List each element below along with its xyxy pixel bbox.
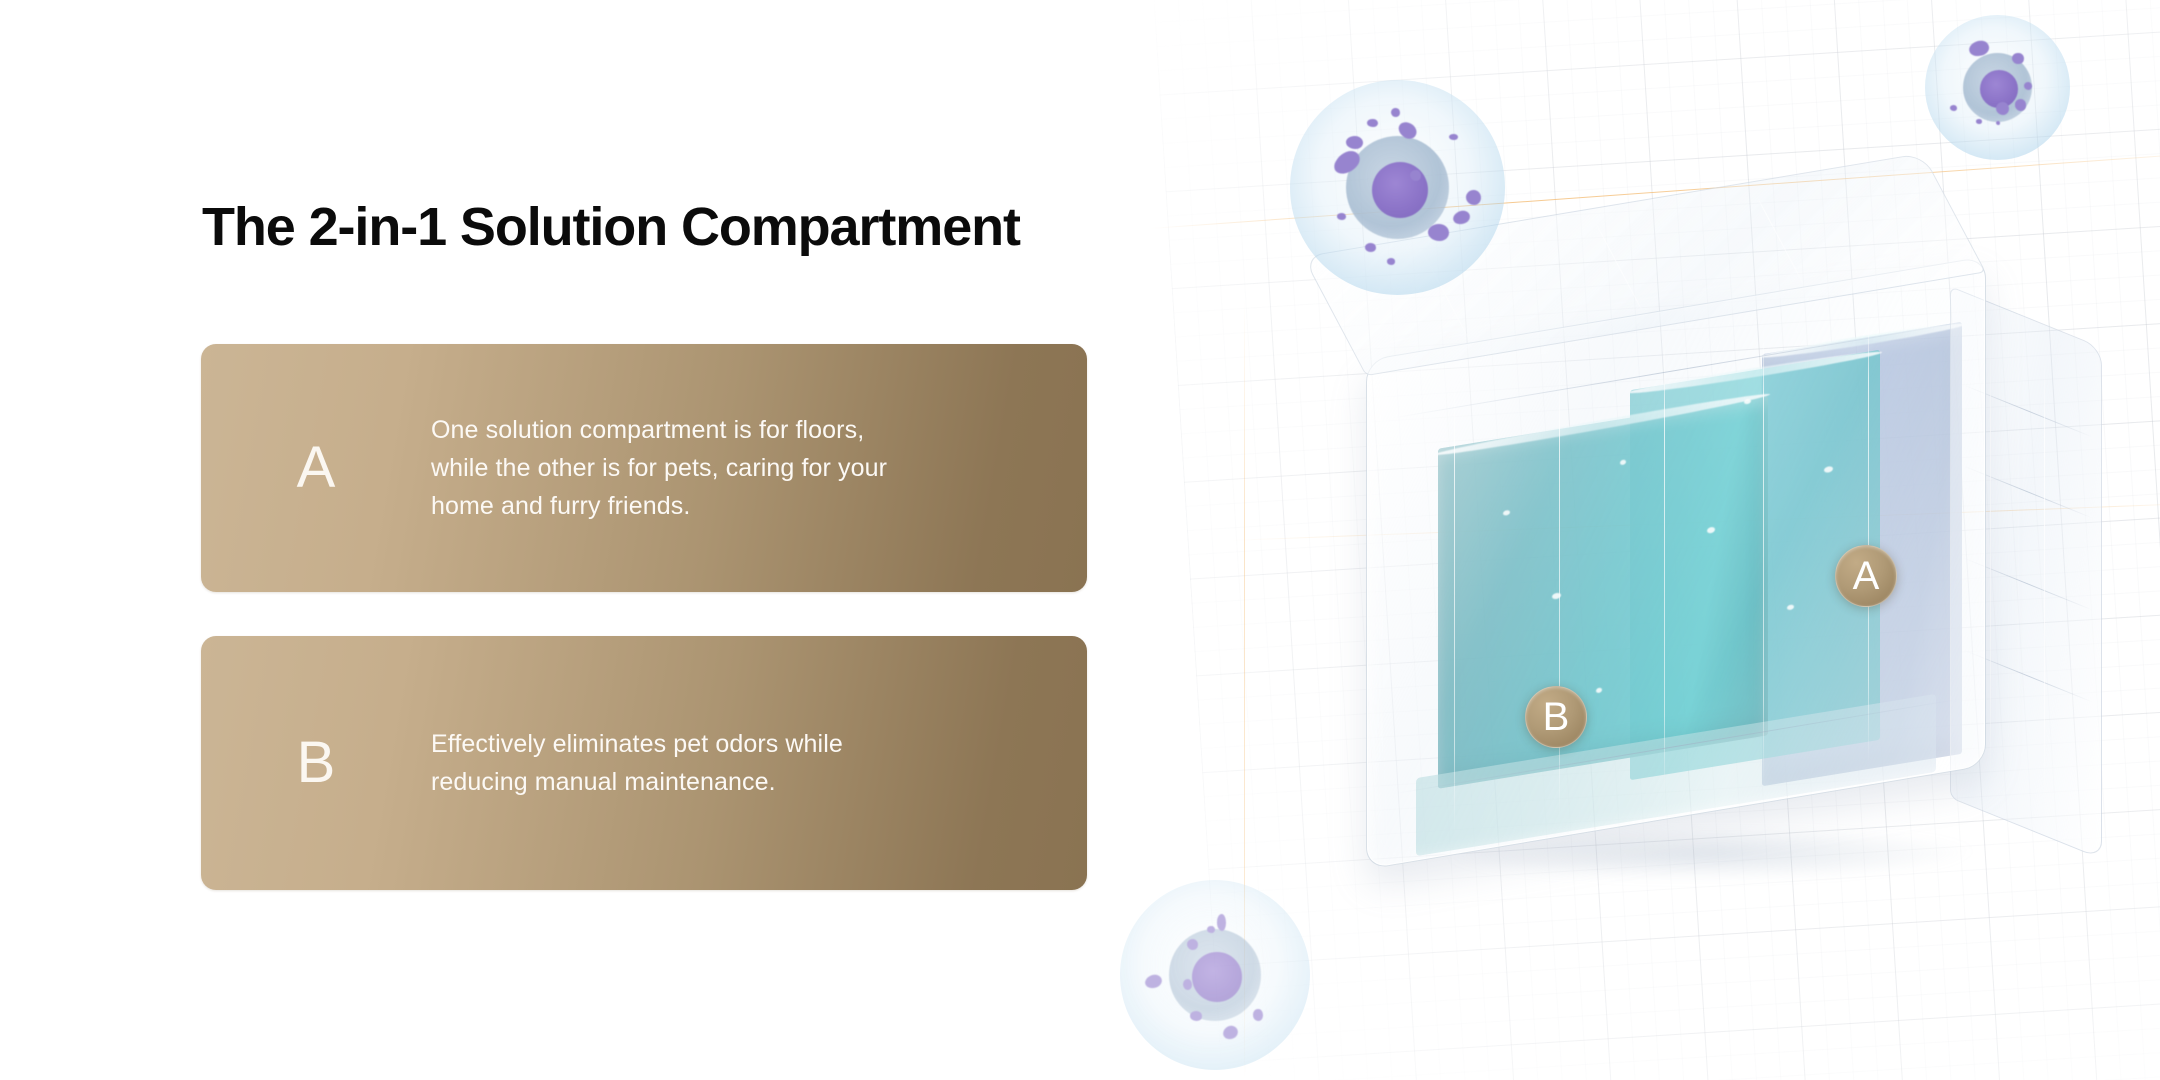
feature-card-a: A One solution compartment is for floors… [201, 344, 1087, 592]
card-a-text: One solution compartment is for floors, … [431, 411, 931, 525]
bacteria-core-icon [1372, 162, 1428, 218]
product-render-dual-solution-tank [1330, 250, 2090, 910]
card-b-line-2: reducing manual maintenance. [431, 763, 843, 801]
bacteria-core-icon [1192, 952, 1241, 1001]
content-column: The 2-in-1 Solution Compartment A One so… [0, 0, 1150, 1080]
transparent-tank [1330, 250, 2090, 910]
card-a-line-3: home and furry friends. [431, 487, 887, 525]
bacteria-cell-top-right [1925, 15, 2070, 160]
badge-a[interactable]: A [1835, 545, 1897, 607]
bacteria-cell-top-center [1290, 80, 1505, 295]
badge-b[interactable]: B [1525, 686, 1587, 748]
card-b-line-1: Effectively eliminates pet odors while [431, 725, 843, 763]
feature-card-b: B Effectively eliminates pet odors while… [201, 636, 1087, 890]
card-b-letter: B [201, 734, 431, 792]
card-a-line-2: while the other is for pets, caring for … [431, 449, 887, 487]
page-title: The 2-in-1 Solution Compartment [202, 196, 1020, 258]
bacteria-cell-bottom-left [1120, 880, 1310, 1070]
card-b-text: Effectively eliminates pet odors while r… [431, 725, 887, 801]
card-a-line-1: One solution compartment is for floors, [431, 411, 887, 449]
card-a-letter: A [201, 439, 431, 497]
